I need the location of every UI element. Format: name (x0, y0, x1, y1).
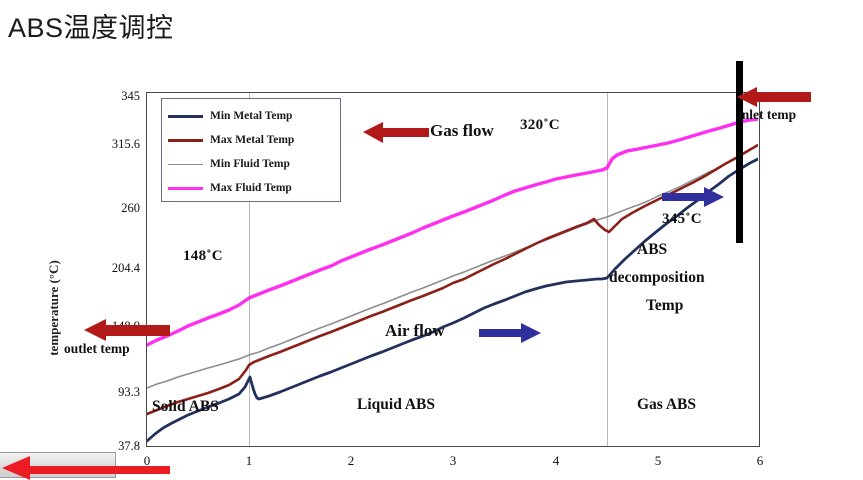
y-tick-label: 204.4 (84, 261, 140, 276)
chart-legend: Min Metal Temp Max Metal Temp Min Fluid … (161, 98, 341, 202)
legend-label-min-fluid-temp: Min Fluid Temp (210, 158, 290, 170)
legend-label-max-fluid-temp: Max Fluid Temp (210, 182, 292, 194)
legend-swatch-min-metal-temp (168, 115, 203, 118)
region-label-gas-abs: Gas ABS (637, 396, 696, 414)
legend-swatch-max-fluid-temp (168, 187, 203, 190)
chart-figure: temperature (°C) 345 315.6 260 204.4 148… (0, 55, 863, 475)
slide-canvas: ABS温度调控 temperature (°C) 345 315.6 260 2… (0, 0, 863, 475)
annotation-temp-345: 345˚C (662, 211, 702, 228)
legend-swatch-min-fluid-temp (168, 164, 203, 165)
legend-item-min-fluid-temp: Min Fluid Temp (168, 152, 334, 176)
outlet-temp-label: outlet temp (64, 341, 130, 357)
y-tick-label: 345 (84, 89, 140, 104)
y-axis-title: temperature (°C) (46, 248, 62, 368)
inlet-temp-arrow-icon (737, 87, 813, 109)
legend-item-max-metal-temp: Max Metal Temp (168, 128, 334, 152)
bottom-left-arrow-head-icon (2, 456, 30, 480)
gas-flow-arrow-icon (363, 121, 431, 145)
x-tick-label: 3 (440, 453, 466, 469)
air-flow-arrow-icon (479, 323, 543, 345)
legend-item-max-fluid-temp: Max Fluid Temp (168, 176, 334, 200)
annotation-air-flow-label: Air flow (385, 321, 445, 341)
outlet-temp-arrow-icon (84, 319, 172, 341)
annotation-abs-decomposition-line1: ABS (637, 241, 667, 259)
bottom-left-arrow-body (28, 466, 170, 474)
abs-decomposition-arrow-icon (662, 187, 726, 209)
y-tick-label: 315.6 (84, 137, 140, 152)
y-tick-label: 260 (84, 201, 140, 216)
annotation-abs-decomposition-line3: Temp (646, 297, 683, 315)
x-tick-label: 4 (543, 453, 569, 469)
page-title: ABS温度调控 (8, 6, 174, 45)
x-tick-label: 2 (338, 453, 364, 469)
region-label-liquid-abs: Liquid ABS (357, 396, 435, 414)
x-tick-label: 6 (747, 453, 773, 469)
legend-swatch-max-metal-temp (168, 139, 203, 142)
legend-label-min-metal-temp: Min Metal Temp (210, 110, 292, 122)
legend-item-min-metal-temp: Min Metal Temp (168, 104, 334, 128)
x-tick-label: 5 (645, 453, 671, 469)
inlet-temp-label: inlet temp (738, 107, 796, 123)
annotation-temp-148: 148˚C (183, 248, 223, 265)
y-tick-label: 93.3 (84, 385, 140, 400)
region-label-solid-abs: Solid ABS (152, 398, 219, 416)
annotation-temp-320: 320˚C (520, 117, 560, 134)
x-tick-label: 1 (236, 453, 262, 469)
legend-label-max-metal-temp: Max Metal Temp (210, 134, 294, 146)
annotation-gas-flow-label: Gas flow (430, 121, 494, 141)
annotation-abs-decomposition-line2: decomposition (609, 269, 705, 287)
